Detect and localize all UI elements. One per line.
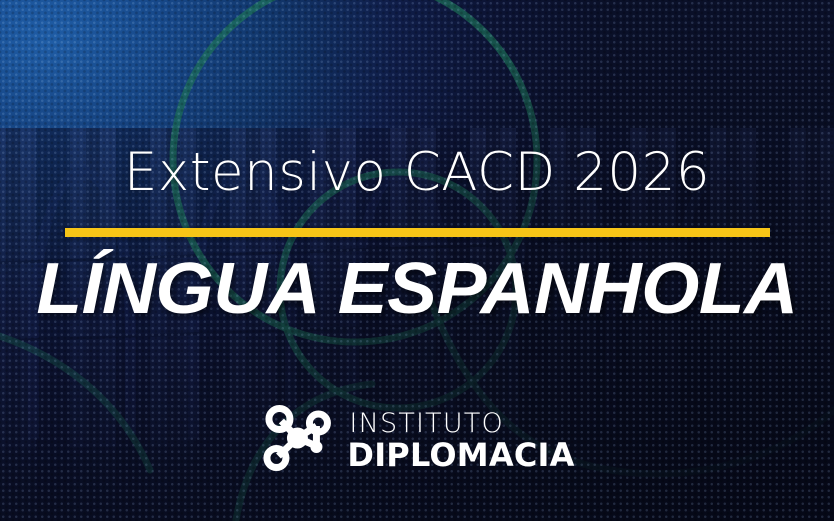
subject-title: LÍNGUA ESPANHOLA — [0, 253, 834, 325]
logo-wordmark: INSTITUTO DIPLOMACIA — [347, 410, 574, 471]
molecule-network-icon — [259, 404, 337, 477]
promotional-banner: Extensivo CACD 2026 LÍNGUA ESPANHOLA — [0, 0, 834, 521]
yellow-divider — [65, 228, 770, 237]
logo-line-instituto: INSTITUTO — [349, 410, 574, 437]
course-title: Extensivo CACD 2026 — [0, 146, 834, 199]
instituto-diplomacia-logo: INSTITUTO DIPLOMACIA — [259, 404, 574, 477]
logo-line-diplomacia: DIPLOMACIA — [347, 439, 574, 471]
banner-content: Extensivo CACD 2026 LÍNGUA ESPANHOLA — [0, 0, 834, 521]
